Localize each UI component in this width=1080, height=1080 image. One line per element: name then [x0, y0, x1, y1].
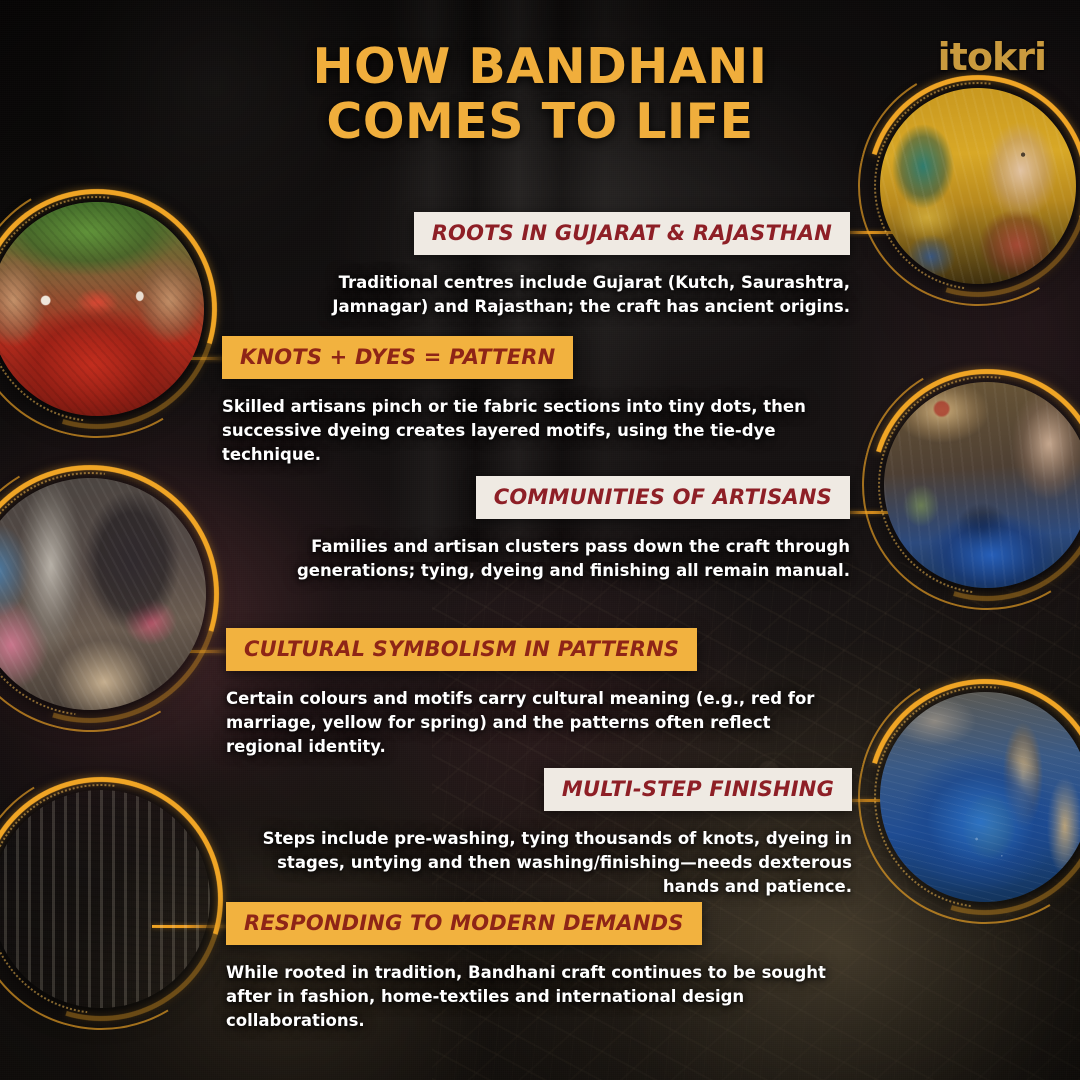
section-multi-step-finishing: MULTI-STEP FINISHING Steps include pre-w… [240, 768, 852, 899]
section-responding-to-modern-demands: RESPONDING TO MODERN DEMANDS While roote… [226, 902, 842, 1033]
section-roots-in-gujarat-rajasthan: ROOTS IN GUJARAT & RAJASTHAN Traditional… [250, 212, 850, 319]
section-knots-dyes-pattern: KNOTS + DYES = PATTERN Skilled artisans … [222, 336, 838, 467]
section-body: Traditional centres include Gujarat (Kut… [250, 271, 850, 319]
section-heading: KNOTS + DYES = PATTERN [222, 336, 573, 379]
photo-women-artisans-tying [0, 478, 206, 710]
section-communities-of-artisans: COMMUNITIES OF ARTISANS Families and art… [238, 476, 850, 583]
section-heading: ROOTS IN GUJARAT & RAJASTHAN [414, 212, 850, 255]
photo-blue-dye-vat [880, 692, 1080, 902]
section-heading: COMMUNITIES OF ARTISANS [476, 476, 850, 519]
logo-text: itokri [938, 35, 1046, 79]
title-line-2: COMES TO LIFE [0, 95, 1080, 150]
itokri-logo[interactable]: itokri [938, 38, 1046, 76]
section-body: While rooted in tradition, Bandhani craf… [226, 961, 842, 1033]
section-body: Families and artisan clusters pass down … [238, 535, 850, 583]
section-heading: RESPONDING TO MODERN DEMANDS [226, 902, 702, 945]
section-body: Steps include pre-washing, tying thousan… [240, 827, 852, 899]
section-heading: CULTURAL SYMBOLISM IN PATTERNS [226, 628, 697, 671]
page-title: HOW BANDHANI COMES TO LIFE [0, 40, 1080, 150]
title-line-1: HOW BANDHANI [313, 38, 768, 95]
section-cultural-symbolism-in-patterns: CULTURAL SYMBOLISM IN PATTERNS Certain c… [226, 628, 842, 759]
photo-hands-tying-red-fabric [0, 202, 204, 416]
section-body: Skilled artisans pinch or tie fabric sec… [222, 395, 838, 467]
photo-dyer-blue-tub [884, 382, 1080, 588]
section-heading: MULTI-STEP FINISHING [544, 768, 852, 811]
section-body: Certain colours and motifs carry cultura… [226, 687, 842, 759]
photo-artisan-yellow-fabric [0, 790, 210, 1008]
